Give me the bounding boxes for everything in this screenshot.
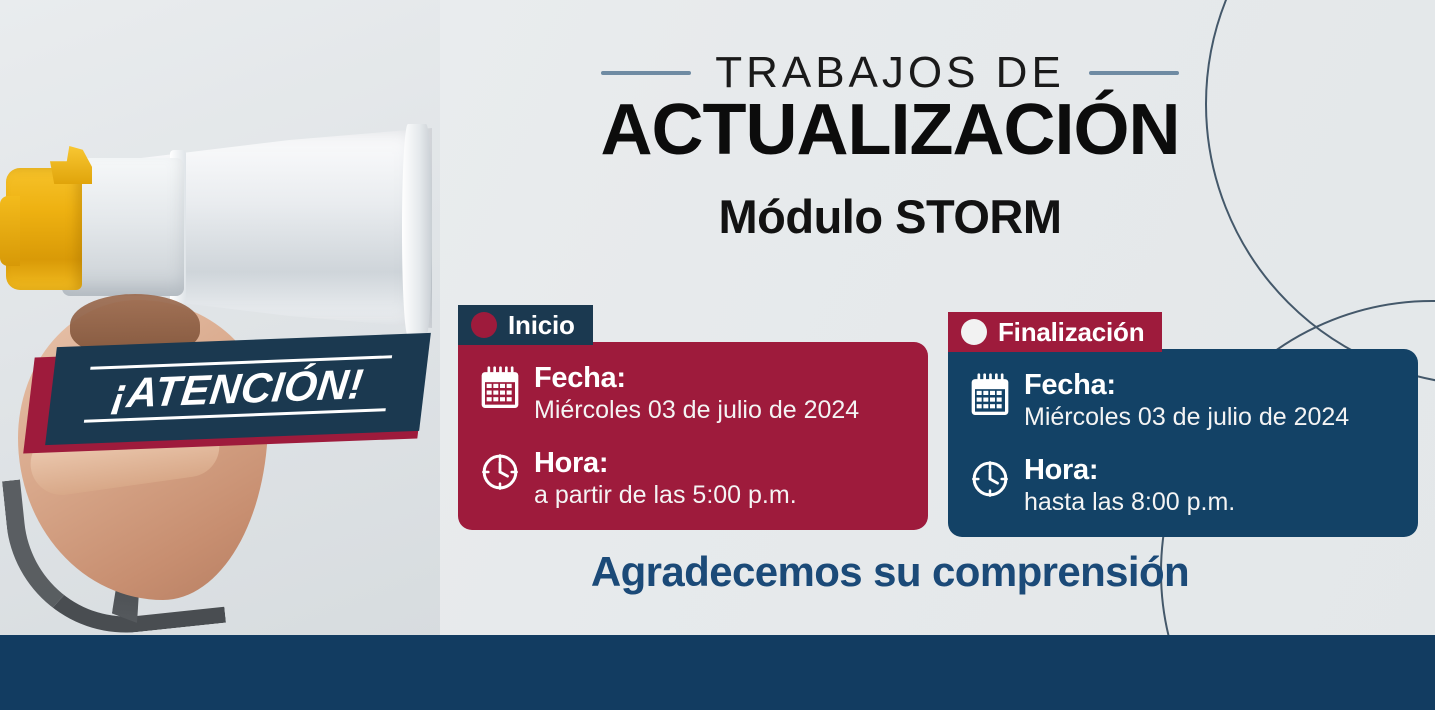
calendar-icon	[970, 373, 1010, 417]
headline-block: TRABAJOS DE ACTUALIZACIÓN Módulo STORM	[440, 48, 1340, 244]
card-finalizacion-date-value: Miércoles 03 de julio de 2024	[1024, 403, 1349, 433]
closing-message: Agradecemos su comprensión	[440, 548, 1340, 596]
announcement-banner: ¡ATENCIÓN! TRABAJOS DE ACTUALIZACIÓN Mód…	[0, 0, 1435, 710]
clock-icon	[480, 451, 520, 495]
megaphone-horn-rim	[402, 124, 432, 336]
card-inicio-badge-label: Inicio	[508, 310, 575, 341]
attention-badge-plate: ¡ATENCIÓN!	[45, 333, 431, 445]
clock-icon	[970, 458, 1010, 502]
headline-title: ACTUALIZACIÓN	[440, 94, 1340, 167]
calendar-icon	[480, 366, 520, 410]
card-finalizacion: Finalización	[948, 312, 1418, 537]
card-inicio-date-value: Miércoles 03 de julio de 2024	[534, 396, 859, 426]
card-finalizacion-date-row: Fecha: Miércoles 03 de julio de 2024	[970, 371, 1396, 432]
footer-bar	[0, 635, 1435, 710]
card-inicio-badge: Inicio	[458, 305, 593, 345]
card-inicio-time-value: a partir de las 5:00 p.m.	[534, 481, 797, 511]
attention-badge-text: ¡ATENCIÓN!	[110, 363, 366, 415]
card-inicio-date-label: Fecha:	[534, 364, 859, 394]
card-inicio: Inicio	[458, 305, 928, 530]
megaphone-cap-lip	[0, 196, 20, 266]
card-finalizacion-time-label: Hora:	[1024, 456, 1235, 486]
megaphone-in-hand-photo	[0, 0, 440, 640]
card-finalizacion-badge: Finalización	[948, 312, 1162, 352]
status-dot-icon	[961, 319, 987, 345]
card-inicio-body: Fecha: Miércoles 03 de julio de 2024	[458, 342, 928, 530]
attention-badge: ¡ATENCIÓN!	[18, 336, 428, 454]
kicker-dash-right-icon	[1089, 71, 1179, 75]
card-inicio-time-label: Hora:	[534, 449, 797, 479]
card-inicio-time-row: Hora: a partir de las 5:00 p.m.	[480, 449, 906, 510]
kicker-dash-left-icon	[601, 71, 691, 75]
headline-subtitle: Módulo STORM	[440, 189, 1340, 244]
card-finalizacion-date-label: Fecha:	[1024, 371, 1349, 401]
card-finalizacion-badge-label: Finalización	[998, 317, 1144, 348]
card-finalizacion-body: Fecha: Miércoles 03 de julio de 2024	[948, 349, 1418, 537]
status-dot-icon	[471, 312, 497, 338]
card-finalizacion-time-value: hasta las 8:00 p.m.	[1024, 488, 1235, 518]
card-inicio-date-row: Fecha: Miércoles 03 de julio de 2024	[480, 364, 906, 425]
card-finalizacion-time-row: Hora: hasta las 8:00 p.m.	[970, 456, 1396, 517]
